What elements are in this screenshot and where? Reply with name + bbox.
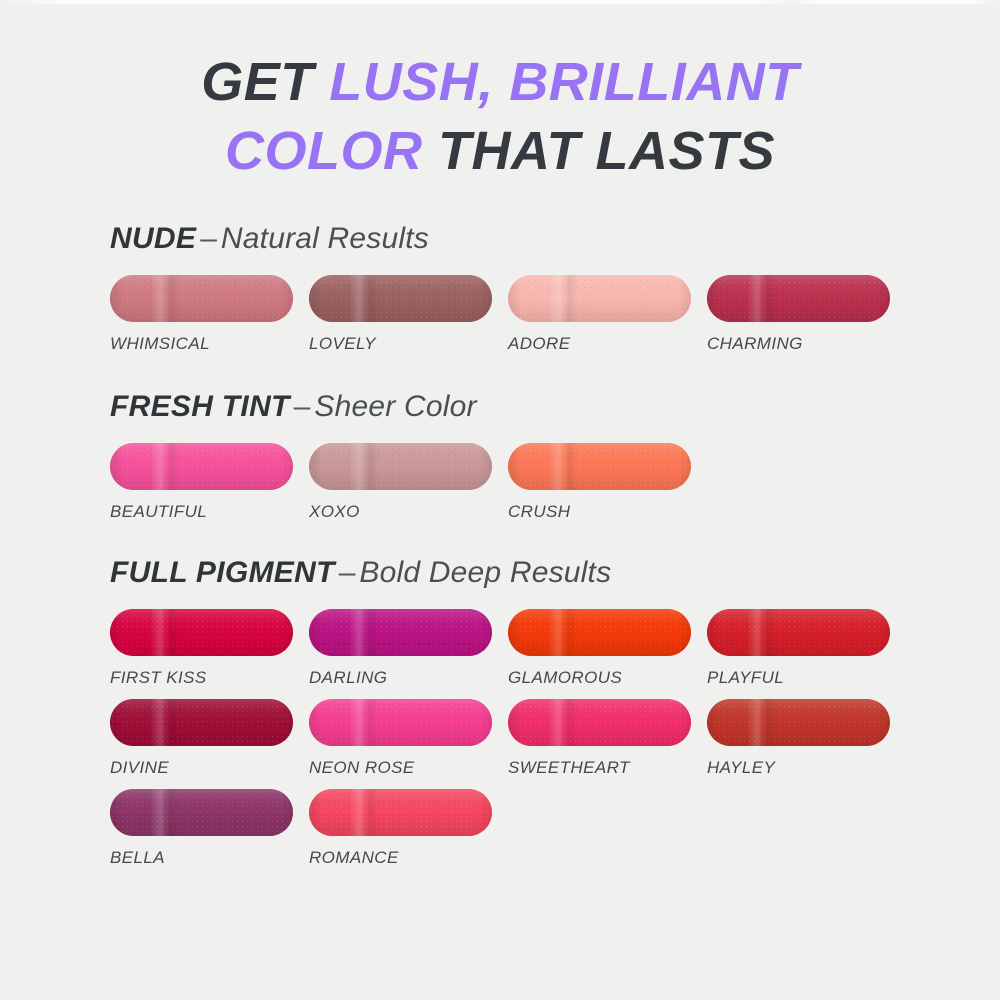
swatch-first-kiss[interactable] <box>110 609 293 656</box>
swatch-edges <box>110 789 293 836</box>
swatch-cell-lovely[interactable]: LOVELY <box>309 275 508 354</box>
swatch-hayley[interactable] <box>707 699 890 746</box>
swatch-whimsical[interactable] <box>110 275 293 322</box>
swatch-label-first-kiss: FIRST KISS <box>110 668 309 688</box>
swatch-label-sweetheart: SWEETHEART <box>508 758 707 778</box>
swatch-edges <box>110 609 293 656</box>
section-subtitle-fresh-tint: Sheer Color <box>314 390 476 423</box>
swatch-cell-glamorous[interactable]: GLAMOROUS <box>508 609 707 688</box>
swatch-cell-first-kiss[interactable]: FIRST KISS <box>110 609 309 688</box>
swatch-cell-adore[interactable]: ADORE <box>508 275 707 354</box>
swatch-label-whimsical: WHIMSICAL <box>110 334 309 354</box>
swatch-label-divine: DIVINE <box>110 758 309 778</box>
swatch-label-glamorous: GLAMOROUS <box>508 668 707 688</box>
headline-segment-lush-brilliant: LUSH, BRILLIANT <box>329 52 798 112</box>
swatch-label-hayley: HAYLEY <box>707 758 906 778</box>
swatch-cell-xoxo[interactable]: XOXO <box>309 443 508 522</box>
swatch-edges <box>309 443 492 490</box>
swatch-cell-whimsical[interactable]: WHIMSICAL <box>110 275 309 354</box>
swatch-edges <box>508 275 691 322</box>
swatch-edges <box>309 275 492 322</box>
swatch-cell-divine[interactable]: DIVINE <box>110 699 309 778</box>
swatch-label-xoxo: XOXO <box>309 502 508 522</box>
section-title-nude: NUDE–Natural Results <box>110 222 940 255</box>
section-subtitle-nude: Natural Results <box>221 222 429 255</box>
section-nude: NUDE–Natural Results WHIMSICAL <box>110 222 940 354</box>
swatch-edges <box>508 443 691 490</box>
swatch-romance[interactable] <box>309 789 492 836</box>
section-full-pigment: FULL PIGMENT–Bold Deep Results FIRST KIS… <box>110 556 940 868</box>
swatch-label-adore: ADORE <box>508 334 707 354</box>
headline-segment-get: GET <box>201 52 329 112</box>
section-title-fresh-tint: FRESH TINT–Sheer Color <box>110 390 940 423</box>
section-name-nude: NUDE <box>110 222 196 255</box>
swatch-cell-sweetheart[interactable]: SWEETHEART <box>508 699 707 778</box>
swatch-edges <box>309 699 492 746</box>
swatch-grid-fresh-tint: BEAUTIFUL XOXO <box>110 443 940 522</box>
swatch-label-lovely: LOVELY <box>309 334 508 354</box>
headline-line-2: COLOR THAT LASTS <box>0 117 1000 186</box>
swatch-sweetheart[interactable] <box>508 699 691 746</box>
page-title: GET LUSH, BRILLIANT COLOR THAT LASTS <box>0 0 1000 186</box>
swatch-adore[interactable] <box>508 275 691 322</box>
swatch-edges <box>508 699 691 746</box>
section-dash-fresh-tint: – <box>290 390 315 423</box>
swatch-edges <box>110 275 293 322</box>
swatch-label-bella: BELLA <box>110 848 309 868</box>
swatch-edges <box>707 609 890 656</box>
swatch-cell-hayley[interactable]: HAYLEY <box>707 699 906 778</box>
headline-segment-that-lasts: THAT LASTS <box>423 121 775 181</box>
swatch-playful[interactable] <box>707 609 890 656</box>
swatch-cell-romance[interactable]: ROMANCE <box>309 789 508 868</box>
swatch-label-beautiful: BEAUTIFUL <box>110 502 309 522</box>
top-edge-seam <box>0 0 1000 4</box>
section-name-fresh-tint: FRESH TINT <box>110 390 290 423</box>
section-dash-full-pigment: – <box>335 556 360 589</box>
swatch-label-playful: PLAYFUL <box>707 668 906 688</box>
swatch-edges <box>110 699 293 746</box>
swatch-edges <box>309 789 492 836</box>
swatch-label-neon-rose: NEON ROSE <box>309 758 508 778</box>
swatch-darling[interactable] <box>309 609 492 656</box>
swatch-cell-neon-rose[interactable]: NEON ROSE <box>309 699 508 778</box>
swatch-edges <box>707 275 890 322</box>
section-dash-nude: – <box>196 222 221 255</box>
swatch-cell-beautiful[interactable]: BEAUTIFUL <box>110 443 309 522</box>
swatch-cell-bella[interactable]: BELLA <box>110 789 309 868</box>
swatch-glamorous[interactable] <box>508 609 691 656</box>
swatch-edges <box>110 443 293 490</box>
swatch-label-charming: CHARMING <box>707 334 906 354</box>
swatch-crush[interactable] <box>508 443 691 490</box>
section-fresh-tint: FRESH TINT–Sheer Color BEAUTIFUL <box>110 390 940 522</box>
swatch-edges <box>508 609 691 656</box>
shade-sections: NUDE–Natural Results WHIMSICAL <box>0 222 1000 868</box>
swatch-edges <box>707 699 890 746</box>
swatch-cell-darling[interactable]: DARLING <box>309 609 508 688</box>
swatch-xoxo[interactable] <box>309 443 492 490</box>
section-name-full-pigment: FULL PIGMENT <box>110 556 335 589</box>
swatch-cell-crush[interactable]: CRUSH <box>508 443 707 522</box>
swatch-neon-rose[interactable] <box>309 699 492 746</box>
swatch-label-crush: CRUSH <box>508 502 707 522</box>
swatch-grid-full-pigment: FIRST KISS DARLING <box>110 609 940 868</box>
headline-line-1: GET LUSH, BRILLIANT <box>0 48 1000 117</box>
section-title-full-pigment: FULL PIGMENT–Bold Deep Results <box>110 556 940 589</box>
swatch-bella[interactable] <box>110 789 293 836</box>
swatch-cell-playful[interactable]: PLAYFUL <box>707 609 906 688</box>
swatch-divine[interactable] <box>110 699 293 746</box>
swatch-cell-charming[interactable]: CHARMING <box>707 275 906 354</box>
swatch-charming[interactable] <box>707 275 890 322</box>
swatch-grid-nude: WHIMSICAL LOVELY <box>110 275 940 354</box>
swatch-beautiful[interactable] <box>110 443 293 490</box>
swatch-label-romance: ROMANCE <box>309 848 508 868</box>
swatch-lovely[interactable] <box>309 275 492 322</box>
section-subtitle-full-pigment: Bold Deep Results <box>359 556 611 589</box>
headline-segment-color: COLOR <box>225 121 423 181</box>
swatch-edges <box>309 609 492 656</box>
swatch-label-darling: DARLING <box>309 668 508 688</box>
